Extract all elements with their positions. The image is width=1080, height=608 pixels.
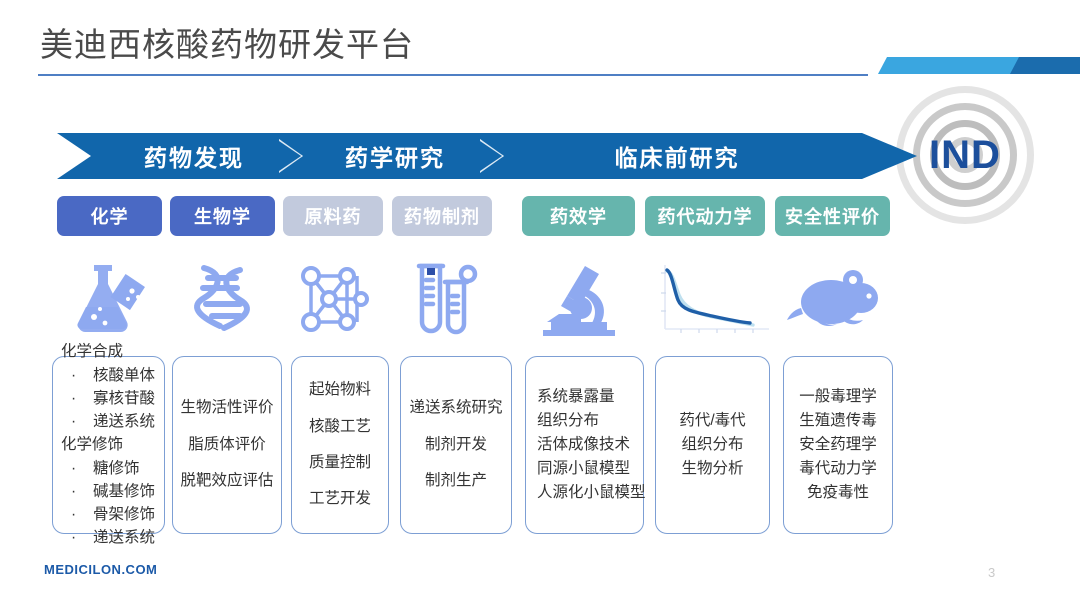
mouse-icon <box>775 256 890 342</box>
header-decoration-dark <box>1010 57 1080 74</box>
pill-pharmacokinetics[interactable]: 药代动力学 <box>645 196 765 236</box>
header-decoration-light <box>878 57 1028 74</box>
molecule-network-icon <box>283 256 388 342</box>
test-tubes-icon <box>392 256 497 342</box>
box-bullet-item: ·递送系统 <box>61 410 156 433</box>
box-group-head: 化学修饰 <box>61 433 156 456</box>
footer-logo[interactable]: MEDICILON.COM <box>44 562 157 577</box>
pill-biology[interactable]: 生物学 <box>170 196 275 236</box>
box-line: 同源小鼠模型 <box>537 457 635 481</box>
box-chemistry[interactable]: 化学合成 ·核酸单体 ·寡核苷酸 ·递送系统 化学修饰 ·糖修饰 ·碱基修饰 ·… <box>52 356 165 534</box>
box-line: 生物活性评价 <box>181 390 274 426</box>
box-line: 脱靶效应评估 <box>181 463 274 499</box>
box-line: 人源化小鼠模型 <box>537 481 635 505</box>
box-line: 免疫毒性 <box>807 481 869 505</box>
box-pharmacodynamics[interactable]: 系统暴露量 组织分布 活体成像技术 同源小鼠模型 人源化小鼠模型 <box>525 356 644 534</box>
box-line: 毒代动力学 <box>799 457 877 481</box>
box-line: 制剂开发 <box>425 427 487 463</box>
box-bullet-item: ·寡核苷酸 <box>61 387 156 410</box>
box-line: 制剂生产 <box>425 463 487 499</box>
flask-icon <box>57 256 162 342</box>
box-bullet-item: ·糖修饰 <box>61 457 156 480</box>
microscope-icon <box>522 256 635 342</box>
box-bullet-item: ·递送系统 <box>61 526 156 549</box>
pill-chemistry[interactable]: 化学 <box>57 196 162 236</box>
pill-safety-eval[interactable]: 安全性评价 <box>775 196 890 236</box>
stage-banner: 药物发现 药学研究 临床前研究 <box>57 133 917 179</box>
box-line: 生殖遗传毒 <box>799 409 877 433</box>
box-line: 一般毒理学 <box>799 385 877 409</box>
page-title: 美迪西核酸药物研发平台 <box>40 18 414 66</box>
box-line: 活体成像技术 <box>537 433 635 457</box>
pill-pharmacodynamics[interactable]: 药效学 <box>522 196 635 236</box>
box-formulation[interactable]: 递送系统研究 制剂开发 制剂生产 <box>400 356 512 534</box>
box-line: 脂质体评价 <box>188 427 266 463</box>
box-line: 起始物料 <box>309 372 371 408</box>
box-bullet-item: ·骨架修饰 <box>61 503 156 526</box>
title-underline <box>38 74 868 76</box>
box-bullet-item: ·碱基修饰 <box>61 480 156 503</box>
box-line: 核酸工艺 <box>309 409 371 445</box>
box-line: 递送系统研究 <box>409 390 502 426</box>
box-bullet-item: ·核酸单体 <box>61 364 156 387</box>
stage-label-preclinical[interactable]: 临床前研究 <box>557 133 797 179</box>
box-line: 药代/毒代 <box>679 409 745 433</box>
box-api[interactable]: 起始物料 核酸工艺 质量控制 工艺开发 <box>291 356 389 534</box>
box-biology[interactable]: 生物活性评价 脂质体评价 脱靶效应评估 <box>172 356 282 534</box>
box-line: 工艺开发 <box>309 481 371 517</box>
page-number: 3 <box>988 565 995 580</box>
stage-label-pharmaceutics[interactable]: 药学研究 <box>310 133 480 179</box>
pill-api[interactable]: 原料药 <box>283 196 383 236</box>
box-line: 安全药理学 <box>799 433 877 457</box>
box-safety-eval[interactable]: 一般毒理学 生殖遗传毒 安全药理学 毒代动力学 免疫毒性 <box>783 356 893 534</box>
box-line: 质量控制 <box>309 445 371 481</box>
box-line: 系统暴露量 <box>537 385 635 409</box>
stage-label-discovery[interactable]: 药物发现 <box>109 133 279 179</box>
box-line: 组织分布 <box>681 433 743 457</box>
dna-helix-icon <box>170 256 275 342</box>
box-group-head: 化学合成 <box>61 340 156 363</box>
box-line: 生物分析 <box>681 457 743 481</box>
pill-formulation[interactable]: 药物制剂 <box>392 196 492 236</box>
box-line: 组织分布 <box>537 409 635 433</box>
pk-curve-chart-icon <box>645 256 775 342</box>
box-pharmacokinetics[interactable]: 药代/毒代 组织分布 生物分析 <box>655 356 770 534</box>
slide-header: 美迪西核酸药物研发平台 <box>0 0 1080 92</box>
